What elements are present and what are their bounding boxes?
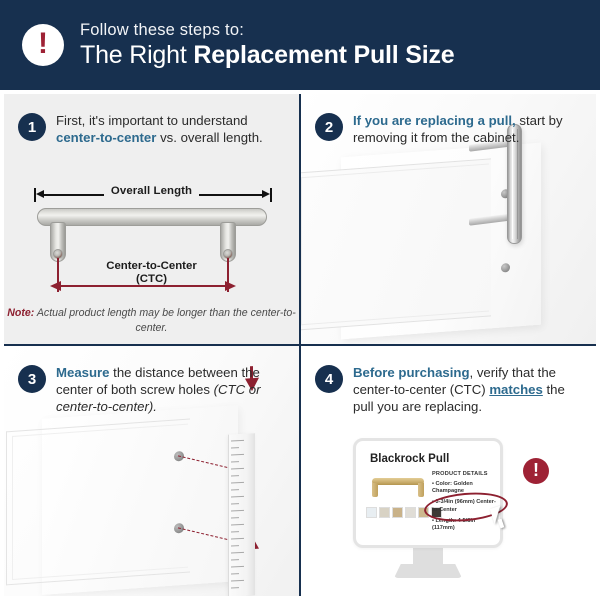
ruler-tick <box>231 538 244 540</box>
product-handle-leg-right <box>418 483 424 497</box>
ruler-tick <box>231 517 239 519</box>
alert-exclamation-icon-4: ! <box>523 458 549 484</box>
step-1-text-a: First, it's important to understand <box>56 113 248 128</box>
cabinet-door-inner-frame-2 <box>301 163 489 325</box>
screw-hole-bottom <box>501 263 510 273</box>
note-bold-label: Note: <box>7 307 34 319</box>
step-number-badge-3: 3 <box>18 365 46 393</box>
ruler-tick <box>231 454 244 456</box>
step-2-accent: If you are replacing a pull, <box>353 113 516 128</box>
ruler-tick <box>231 510 244 512</box>
header-text-block: Follow these steps to: The Right Replace… <box>80 21 455 70</box>
exclamation-glyph: ! <box>38 29 48 59</box>
step-3-copy: Measure the distance between the center … <box>56 364 290 415</box>
ruler-tick <box>231 573 239 575</box>
ruler-tick <box>231 580 244 582</box>
product-swatch[interactable] <box>379 507 390 518</box>
pull-dimension-diagram: Overall Length Center-to-Center (CTC) <box>4 172 299 344</box>
monitor-base <box>394 564 462 578</box>
ruler-tick <box>231 468 244 470</box>
ctc-arrow-right-icon <box>225 281 236 291</box>
monitor-neck <box>413 548 443 566</box>
ruler-tick <box>231 475 239 477</box>
note-text: Actual product length may be longer than… <box>34 307 295 334</box>
ruler-tick <box>231 447 239 449</box>
header-banner: ! Follow these steps to: The Right Repla… <box>0 0 600 90</box>
step-2-copy: If you are replacing a pull, start by re… <box>353 112 587 146</box>
ruler-tick <box>231 552 244 554</box>
header-kicker: Follow these steps to: <box>80 21 455 40</box>
product-swatch[interactable] <box>366 507 377 518</box>
step-panel-1: 1 First, it's important to understand ce… <box>4 94 299 344</box>
step-1-heading: 1 First, it's important to understand ce… <box>18 112 290 146</box>
page-title: The Right Replacement Pull Size <box>80 41 455 70</box>
steps-grid: 1 First, it's important to understand ce… <box>0 90 600 600</box>
ruler-tick <box>231 587 239 589</box>
ruler-graphic <box>228 433 255 596</box>
step-panel-3: 3 Measure the distance between the cente… <box>4 346 299 596</box>
step-3-accent: Measure <box>56 365 110 380</box>
product-handle-leg-left <box>372 483 378 497</box>
ruler-tick <box>231 559 239 561</box>
overall-length-label: Overall Length <box>104 185 199 197</box>
ruler-tick <box>231 545 239 547</box>
product-swatch[interactable] <box>405 507 416 518</box>
exclamation-glyph-4: ! <box>533 461 539 479</box>
step-1-copy: First, it's important to understand cent… <box>56 112 290 146</box>
ruler-tick <box>231 496 244 498</box>
step-2-heading: 2 If you are replacing a pull, start by … <box>315 112 587 146</box>
step-3-heading: 3 Measure the distance between the cente… <box>18 364 290 415</box>
pull-post-left <box>50 222 66 262</box>
overall-length-label-wrap: Overall Length <box>4 181 299 199</box>
cabinet-door-inner-frame-3b <box>12 424 188 580</box>
ctc-dim-line <box>58 285 228 287</box>
product-details-header: PRODUCT DETAILS <box>432 471 498 477</box>
step-number-badge-1: 1 <box>18 113 46 141</box>
step-1-accent: center-to-center <box>56 130 156 145</box>
step-panel-2: 2 If you are replacing a pull, start by … <box>301 94 596 344</box>
title-bold: Replacement Pull Size <box>193 41 454 69</box>
ctc-arrow-left-icon <box>50 281 61 291</box>
ruler-tick <box>231 503 239 505</box>
monitor-screen: Blackrock Pull PRODUCT DETAILS • Color: … <box>353 438 503 548</box>
step-1-text-b: vs. overall length. <box>156 130 262 145</box>
alert-exclamation-icon: ! <box>22 24 64 66</box>
infographic-root: ! Follow these steps to: The Right Repla… <box>0 0 600 600</box>
product-image <box>368 475 428 503</box>
cabinet-door-graphic-3 <box>42 405 238 595</box>
ctc-label: Center-to-Center <box>4 260 299 272</box>
product-title: Blackrock Pull <box>370 453 449 465</box>
ruler-tick <box>231 489 239 491</box>
product-page-monitor-scene: Blackrock Pull PRODUCT DETAILS • Color: … <box>301 346 596 596</box>
ruler-tick <box>231 531 239 533</box>
ruler-tick <box>231 482 244 484</box>
ruler-tick <box>231 566 244 568</box>
step-panel-4: 4 Before purchasing, verify that the cen… <box>301 346 596 596</box>
ruler-tick <box>231 440 244 442</box>
title-light: The Right <box>80 41 193 69</box>
step-1-note: Note: Actual product length may be longe… <box>4 306 299 335</box>
product-handle-bar <box>372 478 424 485</box>
ruler-tick <box>231 524 244 526</box>
step-number-badge-2: 2 <box>315 113 343 141</box>
product-swatch[interactable] <box>392 507 403 518</box>
ctc-dimension <box>50 280 236 292</box>
pull-post-right <box>220 222 236 262</box>
ruler-tick <box>231 461 239 463</box>
